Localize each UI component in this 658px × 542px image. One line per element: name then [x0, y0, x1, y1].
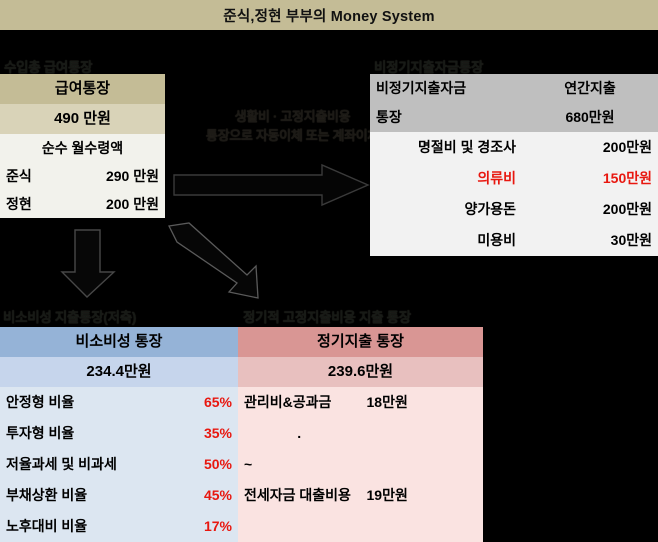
transfer-note: 생활비 · 고정지출비용 통장으로 자동이체 또는 계좌이체 — [205, 108, 380, 146]
section-label-salary: 수입총 급여통장 — [4, 56, 92, 76]
irregular-row-0-value: 200만원 — [522, 132, 658, 163]
regular-header: 정기지출 통장 — [238, 327, 483, 357]
irregular-row-2-value: 200만원 — [522, 194, 658, 225]
irregular-row-3-value: 30만원 — [522, 225, 658, 256]
table-row: 양가용돈 200만원 — [370, 194, 658, 225]
irregular-expense-table: 비정기지출자금 연간지출 통장 680만원 명절비 및 경조사 200만원 의류… — [370, 74, 658, 256]
nonconsume-amount: 234.4만원 — [0, 357, 238, 387]
nonconsume-row-0-value: 65% — [119, 387, 238, 418]
regular-row-4-name — [238, 511, 361, 542]
arrow-down-icon — [60, 228, 120, 300]
salary-subheader: 순수 월수령액 — [0, 134, 165, 162]
page-title: 준식,정현 부부의 Money System — [223, 5, 434, 26]
irregular-header-left: 비정기지출자금 — [370, 74, 522, 103]
table-row: 정기지출 통장 — [238, 327, 483, 357]
table-row: 234.4만원 — [0, 357, 238, 387]
table-row: 통장 680만원 — [370, 103, 658, 132]
salary-row-1-name: 정현 — [0, 190, 83, 218]
table-row: 비소비성 통장 — [0, 327, 238, 357]
irregular-row-0-name: 명절비 및 경조사 — [370, 132, 522, 163]
nonconsume-row-4-value: 17% — [119, 511, 238, 542]
salary-amount: 490 만원 — [0, 104, 165, 134]
salary-row-1-value: 200 만원 — [83, 190, 166, 218]
regular-row-2-value — [361, 449, 484, 480]
irregular-row-1-name: 의류비 — [370, 163, 522, 194]
regular-row-3-value: 19만원 — [361, 480, 484, 511]
table-row: 전세자금 대출비용 19만원 — [238, 480, 483, 511]
table-row: 정현 200 만원 — [0, 190, 165, 218]
table-row: 의류비 150만원 — [370, 163, 658, 194]
salary-header: 급여통장 — [0, 74, 165, 104]
table-row: 안정형 비율 65% — [0, 387, 238, 418]
table-row: 노후대비 비율 17% — [0, 511, 238, 542]
nonconsume-row-2-name: 저율과세 및 비과세 비율 — [0, 449, 119, 480]
regular-amount: 239.6만원 — [238, 357, 483, 387]
nonconsume-row-1-name: 투자형 비율 — [0, 418, 119, 449]
regular-row-1-value — [361, 418, 484, 449]
table-row: 관리비&공과금 18만원 — [238, 387, 483, 418]
nonconsumption-account-table: 비소비성 통장 234.4만원 안정형 비율 65% 투자형 비율 35% 저율… — [0, 327, 238, 542]
regular-expense-table: 정기지출 통장 239.6만원 관리비&공과금 18만원 . ~ 전세자금 대출… — [238, 327, 483, 542]
irregular-row-2-name: 양가용돈 — [370, 194, 522, 225]
irregular-row-3-name: 미용비 — [370, 225, 522, 256]
table-row: 투자형 비율 35% — [0, 418, 238, 449]
table-row: 준식 290 만원 — [0, 162, 165, 190]
nonconsume-row-3-name: 부채상환 비율 — [0, 480, 119, 511]
regular-row-2-name: ~ — [238, 449, 361, 480]
table-row: 부채상환 비율 45% — [0, 480, 238, 511]
regular-row-0-value: 18만원 — [361, 387, 484, 418]
table-row: 순수 월수령액 — [0, 134, 165, 162]
section-label-regular: 정기적 고정지출비용 지출 통장 — [243, 306, 411, 326]
salary-account-table: 급여통장 490 만원 순수 월수령액 준식 290 만원 정현 200 만원 — [0, 74, 165, 218]
nonconsume-row-0-name: 안정형 비율 — [0, 387, 119, 418]
nonconsume-row-4-name: 노후대비 비율 — [0, 511, 119, 542]
nonconsume-header: 비소비성 통장 — [0, 327, 238, 357]
table-row: 490 만원 — [0, 104, 165, 134]
salary-row-0-value: 290 만원 — [83, 162, 166, 190]
nonconsume-row-2-value: 50% — [119, 449, 238, 480]
table-row: ~ — [238, 449, 483, 480]
regular-row-1-name: . — [238, 418, 361, 449]
irregular-sub-left: 통장 — [370, 103, 522, 132]
section-label-nonconsume: 비소비성 지출통장(저축) — [3, 306, 136, 326]
transfer-note-line2: 통장으로 자동이체 또는 계좌이체 — [205, 127, 380, 146]
regular-row-4-value — [361, 511, 484, 542]
table-row: 239.6만원 — [238, 357, 483, 387]
nonconsume-row-3-value: 45% — [119, 480, 238, 511]
table-row: 비정기지출자금 연간지출 — [370, 74, 658, 103]
table-row: 저율과세 및 비과세 비율 50% — [0, 449, 238, 480]
table-row — [238, 511, 483, 542]
nonconsume-row-1-value: 35% — [119, 418, 238, 449]
irregular-sub-right: 680만원 — [522, 103, 658, 132]
table-row: 미용비 30만원 — [370, 225, 658, 256]
salary-row-0-name: 준식 — [0, 162, 83, 190]
regular-row-3-name: 전세자금 대출비용 — [238, 480, 361, 511]
table-row: 급여통장 — [0, 74, 165, 104]
table-row: 명절비 및 경조사 200만원 — [370, 132, 658, 163]
irregular-row-1-value: 150만원 — [522, 163, 658, 194]
regular-row-0-name: 관리비&공과금 — [238, 387, 361, 418]
arrow-diagonal-down-right-icon — [165, 222, 270, 304]
section-label-irregular: 비정기지출자금통장 — [374, 56, 483, 76]
transfer-note-line1: 생활비 · 고정지출비용 — [205, 108, 380, 127]
page-title-bar: 준식,정현 부부의 Money System — [0, 0, 658, 30]
table-row: . — [238, 418, 483, 449]
irregular-header-right: 연간지출 — [522, 74, 658, 103]
arrow-right-icon — [172, 163, 372, 208]
